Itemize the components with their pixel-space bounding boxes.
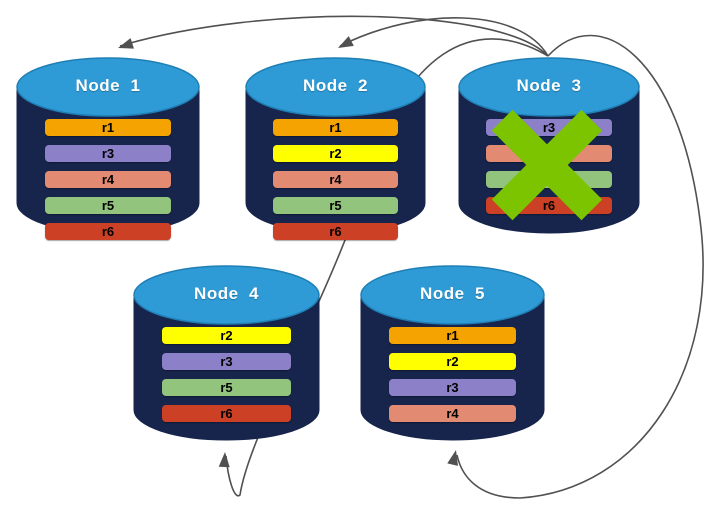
replica-bar[interactable]: r2 — [389, 353, 516, 370]
replica-bar[interactable]: r2 — [162, 327, 291, 344]
replica-label: r4 — [273, 171, 398, 188]
replica-label: r3 — [45, 145, 171, 162]
replica-bar[interactable]: r4 — [45, 171, 171, 188]
replica-bar[interactable]: r6 — [273, 223, 398, 240]
database-node-2[interactable]: Node 2r1r2r4r5r6 — [245, 57, 426, 233]
replica-bar[interactable]: r1 — [389, 327, 516, 344]
replica-label: r1 — [389, 327, 516, 344]
replica-list: r1r2r4r5r6 — [245, 119, 426, 249]
replica-bar[interactable]: r5 — [162, 379, 291, 396]
replica-label: r3 — [486, 119, 612, 136]
replica-bar[interactable]: r6 — [162, 405, 291, 422]
replica-label: r6 — [486, 197, 612, 214]
replica-label: r3 — [389, 379, 516, 396]
replica-bar[interactable]: r2 — [273, 145, 398, 162]
replica-bar[interactable]: r6 — [486, 197, 612, 214]
replica-label: r4 — [486, 145, 612, 162]
replica-label: r6 — [273, 223, 398, 240]
replica-list: r3r4r5r6 — [458, 119, 640, 223]
replica-label: r1 — [273, 119, 398, 136]
replica-label: r2 — [389, 353, 516, 370]
database-node-1[interactable]: Node 1r1r3r4r5r6 — [16, 57, 200, 233]
arrow-node3-to-node5-head — [447, 449, 461, 466]
replica-label: r5 — [162, 379, 291, 396]
replica-bar[interactable]: r4 — [486, 145, 612, 162]
replica-label: r2 — [162, 327, 291, 344]
replica-list: r1r2r3r4 — [360, 327, 545, 431]
replica-label: r3 — [162, 353, 291, 370]
database-node-4[interactable]: Node 4r2r3r5r6 — [133, 265, 320, 440]
replica-bar[interactable]: r3 — [45, 145, 171, 162]
replica-list: r2r3r5r6 — [133, 327, 320, 431]
replica-bar[interactable]: r5 — [273, 197, 398, 214]
replica-bar[interactable]: r5 — [486, 171, 612, 188]
node-title: Node 1 — [16, 76, 200, 96]
replica-label: r4 — [389, 405, 516, 422]
replica-label: r5 — [273, 197, 398, 214]
replica-label: r4 — [45, 171, 171, 188]
arrow-node3-to-node2 — [340, 18, 548, 56]
replica-list: r1r3r4r5r6 — [16, 119, 200, 249]
replica-bar[interactable]: r3 — [389, 379, 516, 396]
arrow-node3-to-node4-head — [219, 452, 231, 468]
replica-label: r1 — [45, 119, 171, 136]
replica-bar[interactable]: r3 — [162, 353, 291, 370]
arrow-node3-to-node2-head — [335, 36, 353, 53]
replica-bar[interactable]: r1 — [273, 119, 398, 136]
arrow-node3-to-node1-head — [116, 38, 134, 53]
node-title: Node 5 — [360, 284, 545, 304]
replica-label: r5 — [486, 171, 612, 188]
node-title: Node 4 — [133, 284, 320, 304]
replica-label: r6 — [162, 405, 291, 422]
database-node-5[interactable]: Node 5r1r2r3r4 — [360, 265, 545, 440]
node-title: Node 2 — [245, 76, 426, 96]
diagram-canvas: Node 1r1r3r4r5r6Node 2r1r2r4r5r6Node 3r3… — [0, 0, 708, 508]
database-node-3[interactable]: Node 3r3r4r5r6 — [458, 57, 640, 233]
node-title: Node 3 — [458, 76, 640, 96]
replica-bar[interactable]: r5 — [45, 197, 171, 214]
replica-label: r2 — [273, 145, 398, 162]
replica-bar[interactable]: r1 — [45, 119, 171, 136]
replica-bar[interactable]: r4 — [273, 171, 398, 188]
replica-bar[interactable]: r4 — [389, 405, 516, 422]
replica-label: r5 — [45, 197, 171, 214]
replica-label: r6 — [45, 223, 171, 240]
replica-bar[interactable]: r6 — [45, 223, 171, 240]
arrow-node3-to-node1 — [120, 16, 548, 56]
replica-bar[interactable]: r3 — [486, 119, 612, 136]
